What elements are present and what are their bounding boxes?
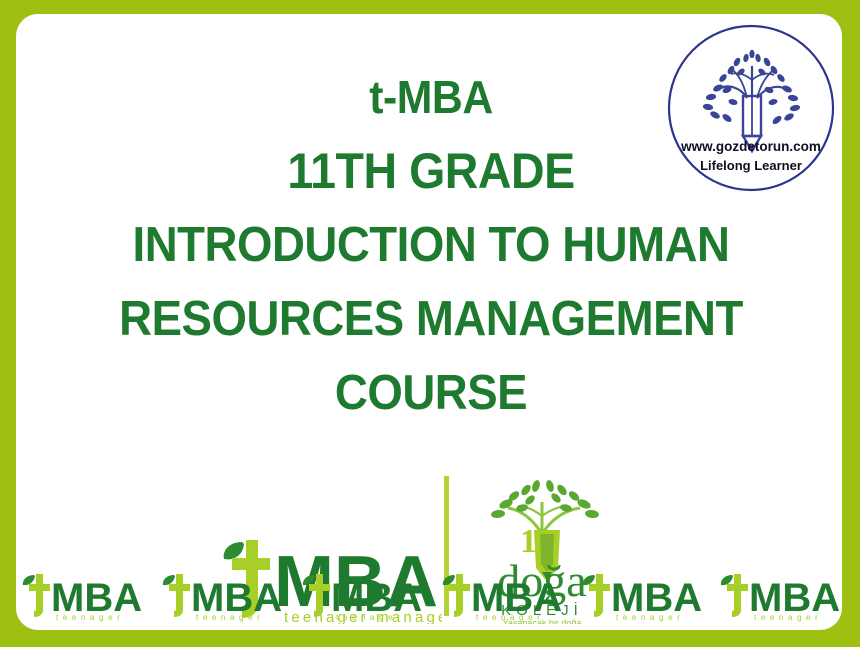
tmba-strip-subtitle: teenager (56, 613, 124, 622)
title-line-5: COURSE (64, 356, 799, 430)
tmba-strip-logo: MBA teenager (298, 570, 422, 622)
tmba-strip-subtitle: teenager (336, 613, 404, 622)
tmba-strip-logo: MBA teenager (438, 570, 562, 622)
tmba-strip-subtitle: teenager (196, 613, 264, 622)
title-line-2: 11TH GRADE (64, 134, 799, 208)
tmba-leaf-icon (303, 575, 315, 585)
bottom-logo-strip: MBA teenager MBA teenager (16, 564, 842, 622)
tmba-strip-subtitle: teenager (476, 613, 544, 622)
tmba-strip-subtitle: teenager (616, 613, 684, 622)
title-line-4: RESOURCES MANAGEMENT (64, 282, 799, 356)
title-line-1: t-MBA (64, 60, 799, 134)
tmba-leaf-icon (443, 575, 455, 585)
page-title: t-MBA 11TH GRADE INTRODUCTION TO HUMAN R… (36, 60, 826, 430)
tmba-strip-logo: MBA teenager (18, 570, 142, 622)
tmba-strip-logo: MBA teenager (716, 570, 840, 622)
tmba-leaf-icon (721, 575, 733, 585)
tmba-strip-logo: MBA teenager (158, 570, 282, 622)
slide-frame: www.gozdetorun.com Lifelong Learner t-MB… (0, 0, 860, 647)
tmba-leaf-icon (163, 575, 175, 585)
tmba-leaf-icon (23, 575, 35, 585)
title-line-3: INTRODUCTION TO HUMAN (64, 208, 799, 282)
tmba-strip-logo: MBA teenager (578, 570, 702, 622)
slide-content-area: www.gozdetorun.com Lifelong Learner t-MB… (16, 14, 842, 630)
tmba-strip-subtitle: teenager (754, 613, 822, 622)
tmba-leaf-icon (583, 575, 595, 585)
tmba-leaf-icon (224, 542, 244, 559)
